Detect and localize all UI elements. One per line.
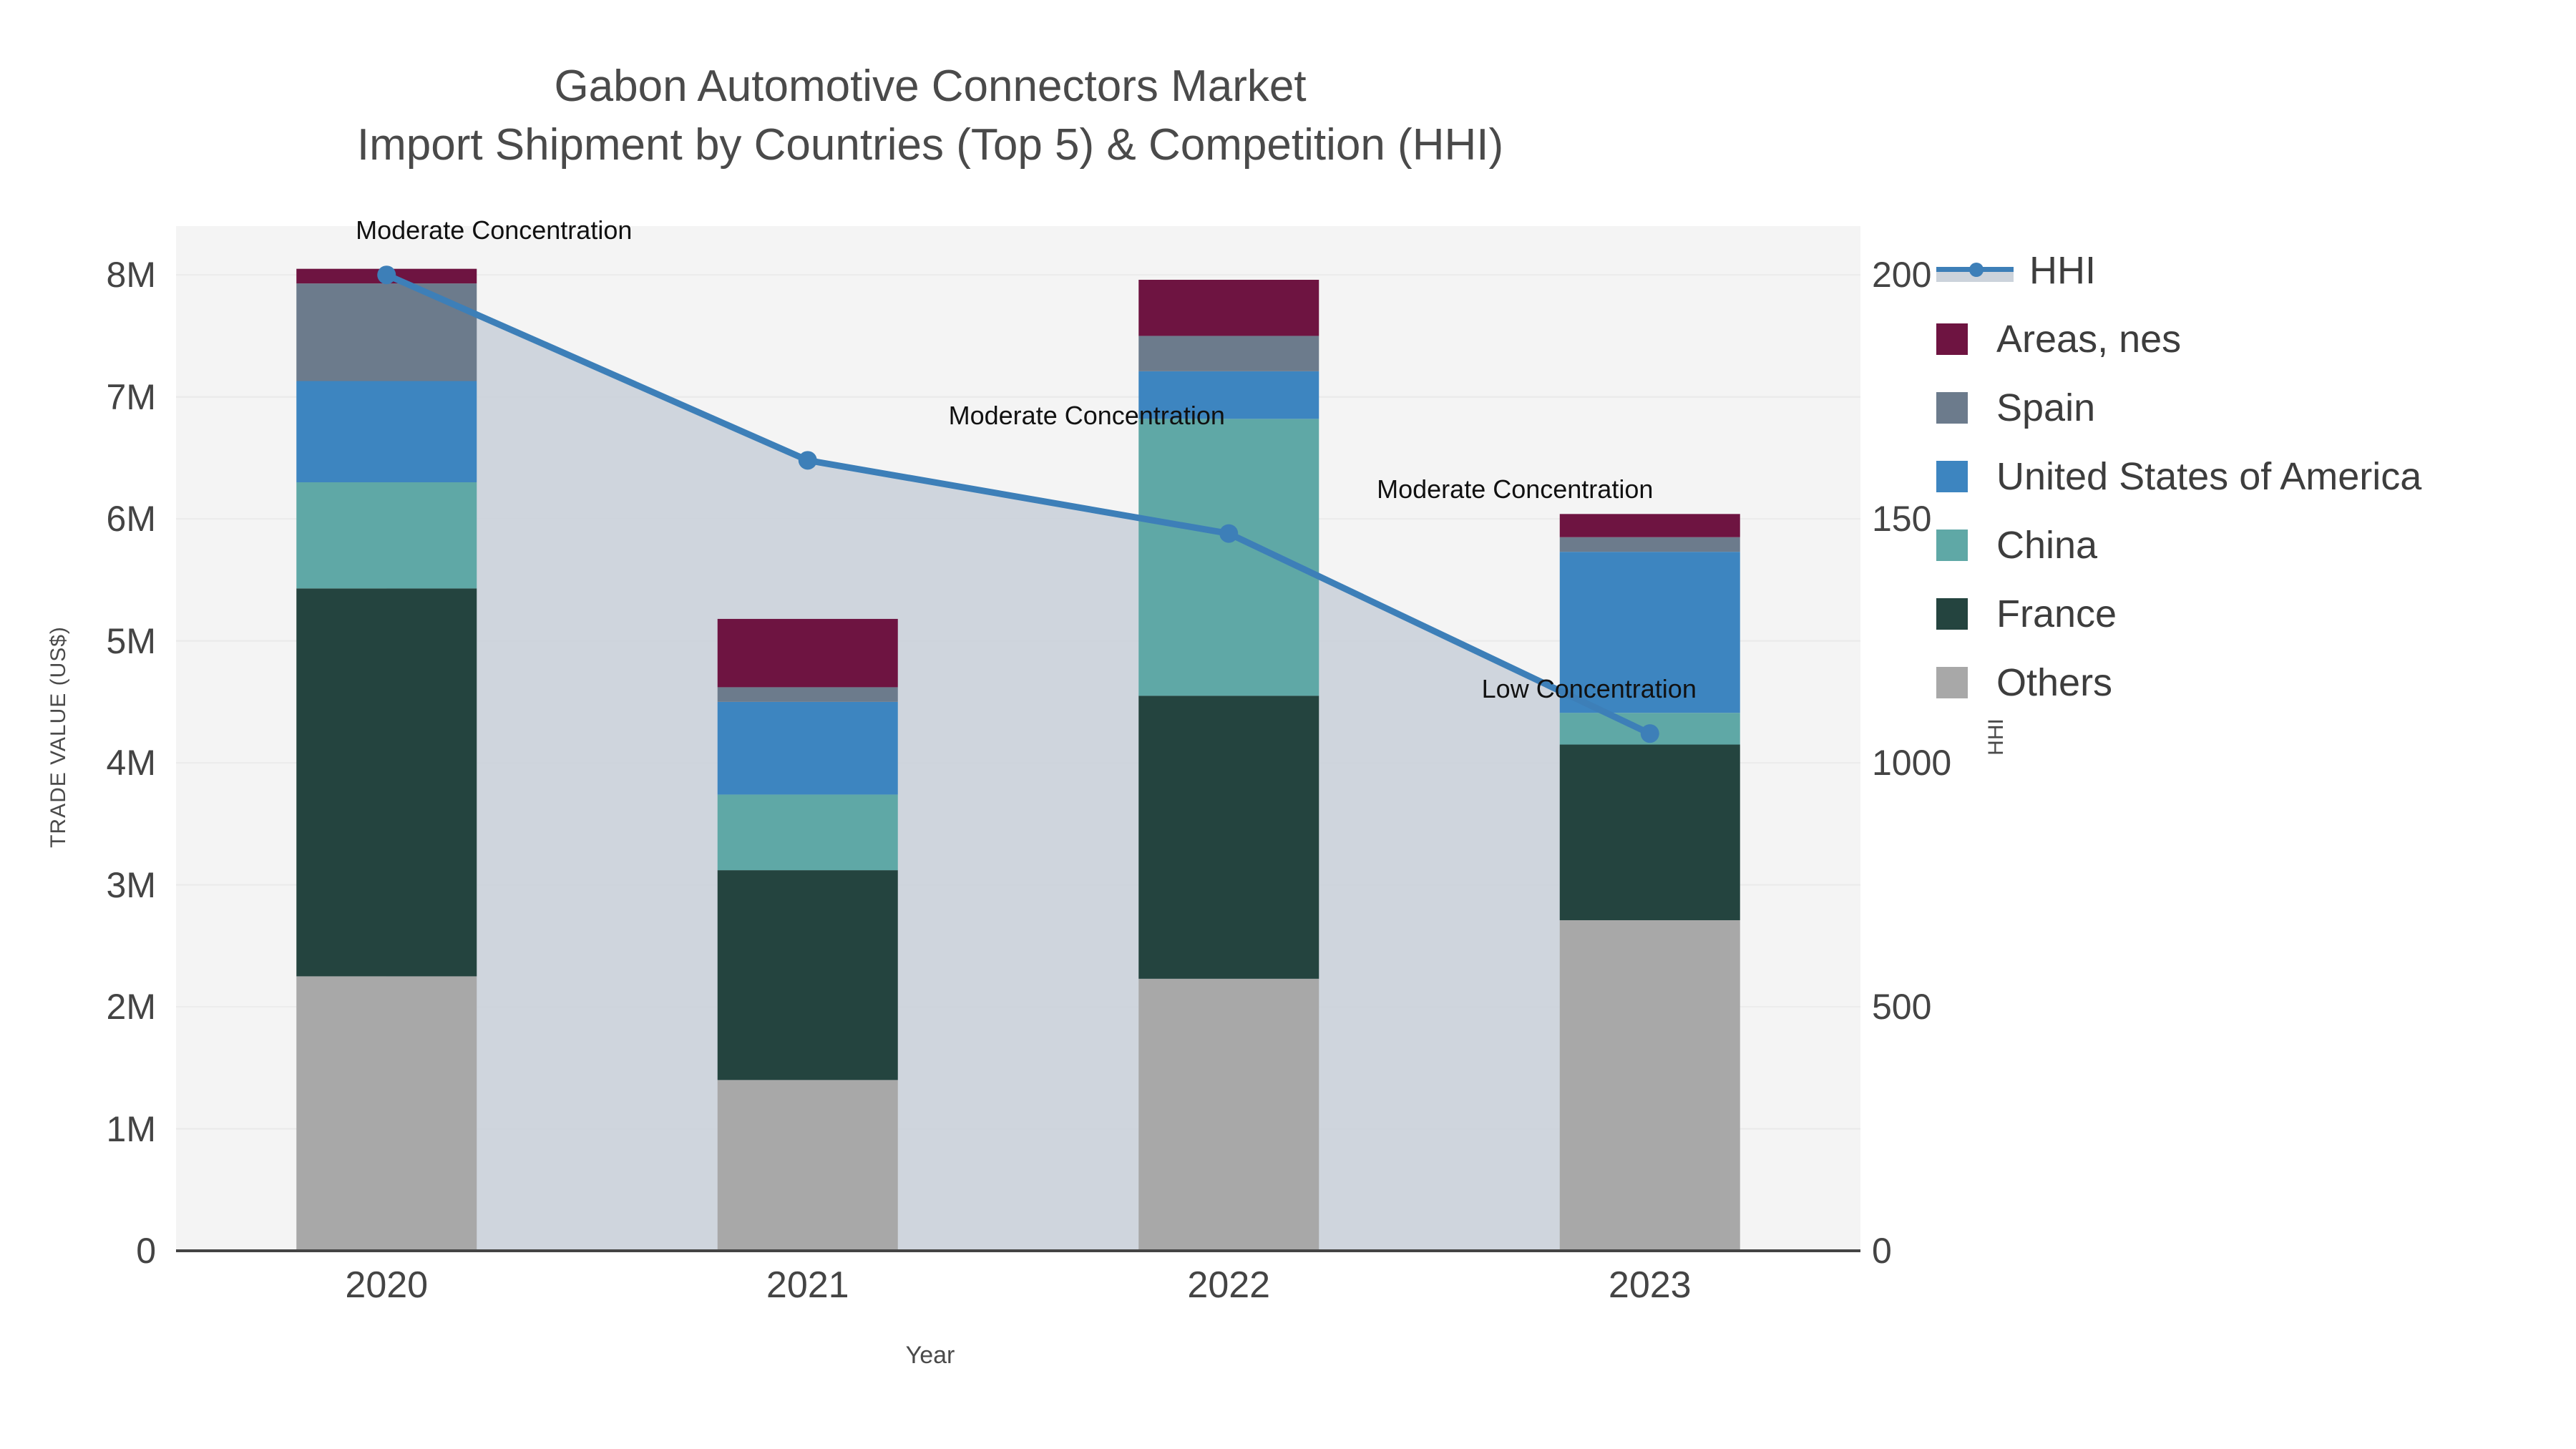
legend-item-label: France [1996,592,2117,636]
bar-segment[interactable] [296,283,477,381]
bar-segment[interactable] [1560,920,1740,1251]
hhi-line-icon [1936,255,2014,286]
bar-segment[interactable] [296,482,477,588]
legend-item[interactable]: France [1936,580,2566,648]
y-axis-left-tick: 5M [0,620,156,662]
legend-item-label: Spain [1996,386,2095,430]
concentration-annotation: Moderate Concentration [1377,474,1653,504]
y-axis-right-tick: 1000 [1872,742,1951,784]
y-axis-right-tick: 500 [1872,986,1931,1028]
bar-segment[interactable] [1138,979,1319,1251]
concentration-annotation: Moderate Concentration [949,401,1225,431]
bar-segment[interactable] [1138,419,1319,696]
bar-segment[interactable] [296,588,477,976]
bar-segment[interactable] [1138,280,1319,336]
concentration-annotation: Low Concentration [1482,674,1697,704]
legend-item-label: United States of America [1996,454,2421,499]
y-axis-right-label: HHI [1984,718,2009,756]
y-axis-left-label: TRADE VALUE (US$) [47,626,71,848]
x-axis-label: Year [0,1342,1860,1370]
y-axis-right-tick: 200 [1872,254,1931,296]
bar-segment[interactable] [296,381,477,482]
legend-color-swatch [1936,598,1968,630]
legend-item[interactable]: Spain [1936,374,2566,442]
legend-item-label: China [1996,523,2097,567]
hhi-marker[interactable] [799,451,817,469]
hhi-dot-icon [1969,263,1984,277]
right-axis-line [1860,226,1863,1251]
legend-item[interactable]: HHI [1936,236,2566,305]
legend-item[interactable]: United States of America [1936,442,2566,511]
chart-title-line-2: Import Shipment by Countries (Top 5) & C… [0,116,1860,175]
chart-legend: HHIAreas, nesSpainUnited States of Ameri… [1936,236,2566,717]
y-axis-left-tick: 6M [0,498,156,540]
bar-segment[interactable] [718,619,898,687]
plot-clip [176,226,1860,1251]
y-axis-left-tick: 2M [0,986,156,1028]
chart-page: Gabon Automotive Connectors Market Impor… [0,0,2576,1449]
legend-item-label: Others [1996,660,2112,705]
y-axis-left-tick: 4M [0,742,156,784]
y-axis-left-tick: 1M [0,1108,156,1150]
x-axis-tick: 2022 [1187,1264,1270,1307]
hhi-marker[interactable] [1219,525,1238,543]
y-axis-left-tick: 0 [0,1230,156,1272]
legend-color-swatch [1936,392,1968,424]
legend-color-swatch [1936,667,1968,698]
x-axis-tick: 2023 [1609,1264,1692,1307]
x-axis-line [176,1249,1860,1252]
x-axis-tick: 2021 [766,1264,849,1307]
y-axis-right-tick: 0 [1872,1230,1892,1272]
bar-segment[interactable] [718,794,898,870]
concentration-annotation: Moderate Concentration [356,215,632,245]
bar-segment[interactable] [1560,514,1740,537]
bar-segment[interactable] [718,1080,898,1251]
bar-segment[interactable] [1138,336,1319,371]
y-axis-left-tick: 7M [0,376,156,418]
y-axis-left-tick: 3M [0,864,156,906]
plot-area [176,226,1860,1251]
legend-item-label: Areas, nes [1996,317,2181,361]
legend-item[interactable]: Areas, nes [1936,305,2566,374]
y-axis-right-tick: 150 [1872,498,1931,540]
legend-item[interactable]: Others [1936,648,2566,717]
legend-color-swatch [1936,323,1968,355]
legend-color-swatch [1936,530,1968,561]
chart-title: Gabon Automotive Connectors Market Impor… [0,57,1860,175]
chart-title-line-1: Gabon Automotive Connectors Market [0,57,1860,116]
bar-segment[interactable] [718,870,898,1080]
y-axis-left-tick: 8M [0,254,156,296]
bar-segment[interactable] [718,702,898,795]
legend-item[interactable]: China [1936,511,2566,580]
legend-color-swatch [1936,461,1968,492]
legend-item-label: HHI [2029,248,2096,293]
bar-segment[interactable] [718,687,898,701]
bar-segment[interactable] [1560,537,1740,552]
bar-segment[interactable] [296,976,477,1251]
bar-segment[interactable] [1138,696,1319,979]
hhi-marker[interactable] [1641,724,1659,743]
chart-svg [176,226,1860,1251]
bar-segment[interactable] [1560,745,1740,920]
x-axis-tick: 2020 [345,1264,428,1307]
hhi-marker[interactable] [377,265,396,284]
